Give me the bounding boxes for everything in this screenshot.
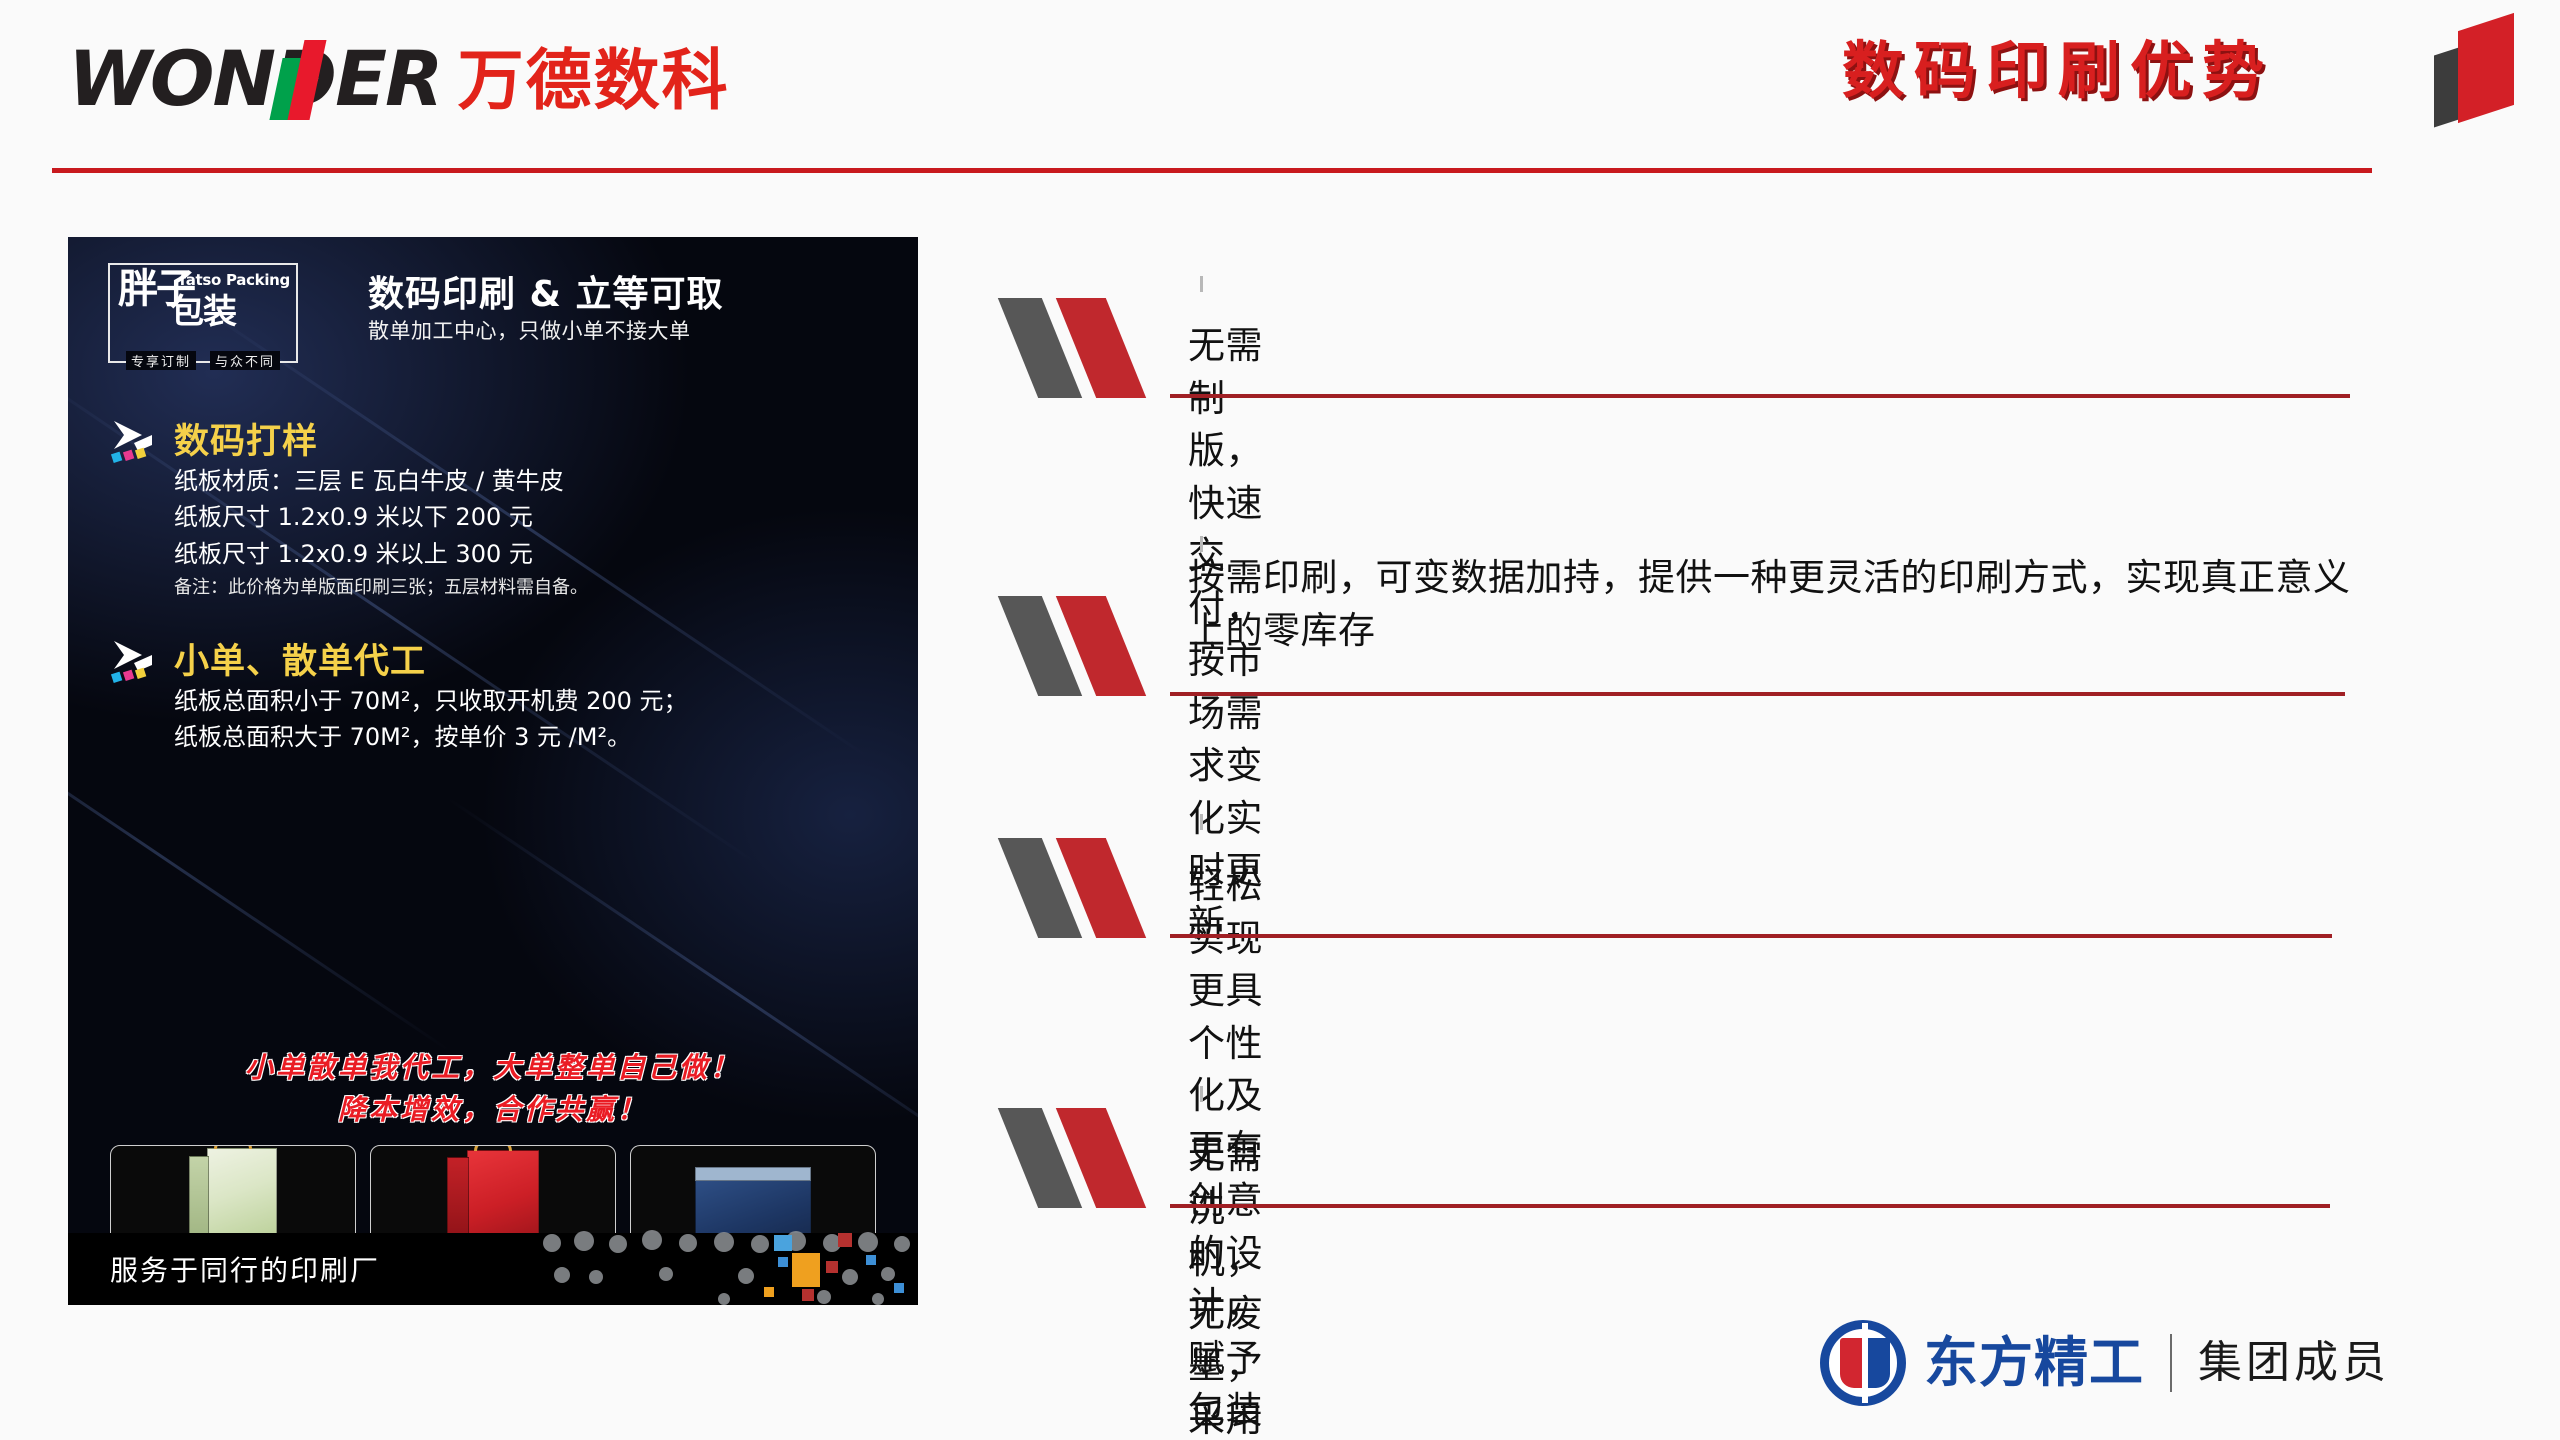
corner-red-shape xyxy=(2458,13,2514,123)
poster-section-body: 纸板总面积小于 70M²，只收取开机费 200 元； 纸板总面积大于 70M²，… xyxy=(174,683,688,756)
chevron-arrow-icon xyxy=(108,419,168,465)
poster-section-line: 纸板材质：三层 E 瓦白牛皮 / 黄牛皮 xyxy=(174,463,588,499)
poster-footer-text: 服务于同行的印刷厂 xyxy=(110,1249,380,1289)
bullet-tick-mark xyxy=(1200,1086,1203,1102)
emblem-shield-blue xyxy=(1865,1338,1890,1388)
poster-section-note: 备注：此价格为单版面印刷三张；五层材料需自备。 xyxy=(174,574,588,601)
company-logo: WONDER 万德数科 xyxy=(68,44,730,114)
bullet-marker-icon xyxy=(1010,596,1170,696)
bullet-marker-icon xyxy=(1010,1108,1170,1208)
advantage-underline xyxy=(1170,692,2345,696)
poster-section-title: 小单、散单代工 xyxy=(174,633,426,684)
emblem-vertical-bar xyxy=(1862,1323,1868,1403)
fatso-brand-en: fatso Packing xyxy=(179,271,290,289)
poster-slogan-line1: 小单散单我代工，大单整单自己做！ xyxy=(68,1047,918,1089)
advantage-text: 无需洗机，无废墨，采用水性墨水，更环保节能 xyxy=(1188,1130,1263,1440)
poster-header: 胖子 fatso Packing 包装 专享订制 与众不同 数码印刷 & 立等可… xyxy=(68,237,918,387)
logo-wordmark: WONDER xyxy=(68,44,442,114)
poster-section-line: 纸板总面积小于 70M²，只收取开机费 200 元； xyxy=(174,683,688,719)
slide-root: WONDER 万德数科 数码印刷优势 胖子 fatso Packing 包装 专… xyxy=(0,0,2560,1440)
advantage-text: 按需印刷，可变数据加持，提供一种更灵活的印刷方式，实现真正意义上的零库存 xyxy=(1188,552,2368,657)
bullet-tick-mark xyxy=(1200,814,1203,830)
poster-footer: 服务于同行的印刷厂 xyxy=(68,1233,918,1305)
halftone-dots-decoration xyxy=(538,1227,918,1305)
bullet-tick-mark xyxy=(1200,276,1203,292)
poster-section-line: 纸板尺寸 1.2x0.9 米以上 300 元 xyxy=(174,536,588,572)
header-divider xyxy=(52,168,2372,173)
fatso-tag-right: 与众不同 xyxy=(210,351,280,370)
bullet-marker-icon xyxy=(1010,838,1170,938)
logo-wordmark-text: WONDER xyxy=(68,34,442,123)
advantage-underline xyxy=(1170,934,2332,938)
group-member-logo: 东方精工 集团成员 xyxy=(1820,1320,2390,1406)
poster-headline: 数码印刷 & 立等可取 xyxy=(368,265,723,317)
logo-chinese-name: 万德数科 xyxy=(458,48,730,114)
poster-section-title: 数码打样 xyxy=(174,413,318,464)
dongfang-emblem-icon xyxy=(1820,1320,1906,1406)
footer-divider xyxy=(2170,1334,2172,1392)
page-title: 数码印刷优势 xyxy=(1842,40,2274,102)
poster-section-line: 纸板总面积大于 70M²，按单价 3 元 /M²。 xyxy=(174,719,688,755)
chevron-arrow-icon xyxy=(108,639,168,685)
poster-section-line: 纸板尺寸 1.2x0.9 米以下 200 元 xyxy=(174,499,588,535)
advantage-underline xyxy=(1170,394,2350,398)
fatso-tag-left: 专享订制 xyxy=(126,351,196,370)
poster-slogan-line2: 降本增效，合作共赢！ xyxy=(68,1089,918,1131)
fatso-brand-cn2: 包装 xyxy=(170,295,236,329)
group-member-label: 集团成员 xyxy=(2198,1341,2390,1385)
dongfang-company-name: 东方精工 xyxy=(1924,1336,2144,1390)
bullet-marker-icon xyxy=(1010,298,1170,398)
poster-section-body: 纸板材质：三层 E 瓦白牛皮 / 黄牛皮 纸板尺寸 1.2x0.9 米以下 20… xyxy=(174,463,588,601)
fatso-brand-logo: 胖子 fatso Packing 包装 专享订制 与众不同 xyxy=(108,263,298,363)
promo-poster-image: 胖子 fatso Packing 包装 专享订制 与众不同 数码印刷 & 立等可… xyxy=(68,237,918,1305)
bullet-tick-mark xyxy=(1200,536,1203,552)
corner-decoration-icon xyxy=(2432,6,2540,124)
poster-slogan: 小单散单我代工，大单整单自己做！ 降本增效，合作共赢！ xyxy=(68,1047,918,1131)
advantage-underline xyxy=(1170,1204,2330,1208)
poster-subheadline: 散单加工中心，只做小单不接大单 xyxy=(368,315,691,345)
